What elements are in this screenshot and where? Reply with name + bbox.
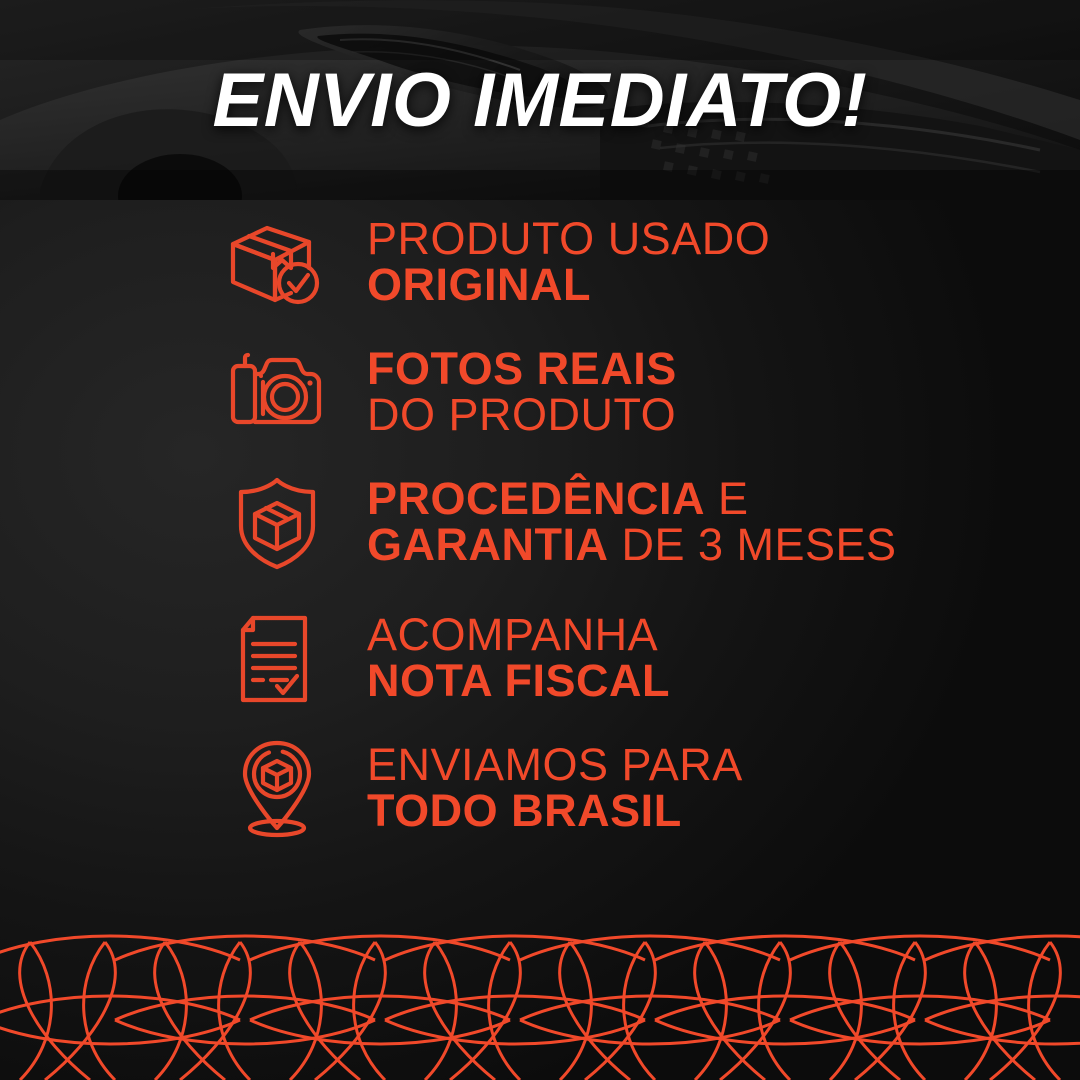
hero-title: ENVIO IMEDIATO! xyxy=(0,0,1080,200)
feature-line-1: ACOMPANHA xyxy=(367,612,670,658)
promo-banner: ENVIO IMEDIATO! PRODUTO USADO ORIGINAL xyxy=(0,0,1080,1080)
feature-line-1-light: E xyxy=(705,473,749,524)
feature-text: PRODUTO USADO ORIGINAL xyxy=(367,216,770,308)
shield-box-icon xyxy=(225,470,329,574)
feature-item-produto-original: PRODUTO USADO ORIGINAL xyxy=(225,202,770,322)
location-pin-box-icon xyxy=(225,736,329,840)
feature-line-2: DO PRODUTO xyxy=(367,392,677,438)
feature-line-1: ENVIAMOS PARA xyxy=(367,742,743,788)
feature-line-2-bold: GARANTIA xyxy=(367,519,608,570)
feature-line-2-light: DE 3 MESES xyxy=(608,519,896,570)
feature-line-1: PROCEDÊNCIA E xyxy=(367,476,897,522)
hero-banner: ENVIO IMEDIATO! xyxy=(0,0,1080,200)
feature-line-2: GARANTIA DE 3 MESES xyxy=(367,522,897,568)
geometric-arc-lattice-border xyxy=(0,920,1080,1080)
invoice-document-check-icon xyxy=(225,606,329,710)
feature-item-procedencia-garantia: PROCEDÊNCIA E GARANTIA DE 3 MESES xyxy=(225,462,897,582)
feature-text: FOTOS REAIS DO PRODUTO xyxy=(367,346,677,438)
feature-line-2: NOTA FISCAL xyxy=(367,658,670,704)
feature-line-2: ORIGINAL xyxy=(367,262,770,308)
package-box-check-icon xyxy=(225,210,329,314)
feature-text: ENVIAMOS PARA TODO BRASIL xyxy=(367,742,743,834)
feature-line-1: PRODUTO USADO xyxy=(367,216,770,262)
feature-text: ACOMPANHA NOTA FISCAL xyxy=(367,612,670,704)
feature-line-1: FOTOS REAIS xyxy=(367,346,677,392)
camera-icon xyxy=(225,340,329,444)
feature-item-todo-brasil: ENVIAMOS PARA TODO BRASIL xyxy=(225,728,743,848)
feature-line-1-bold: PROCEDÊNCIA xyxy=(367,473,705,524)
feature-line-2: TODO BRASIL xyxy=(367,788,743,834)
feature-item-fotos-reais: FOTOS REAIS DO PRODUTO xyxy=(225,332,677,452)
feature-item-nota-fiscal: ACOMPANHA NOTA FISCAL xyxy=(225,598,670,718)
feature-text: PROCEDÊNCIA E GARANTIA DE 3 MESES xyxy=(367,476,897,568)
feature-list: PRODUTO USADO ORIGINAL FOTOS REAIS xyxy=(0,200,1080,930)
